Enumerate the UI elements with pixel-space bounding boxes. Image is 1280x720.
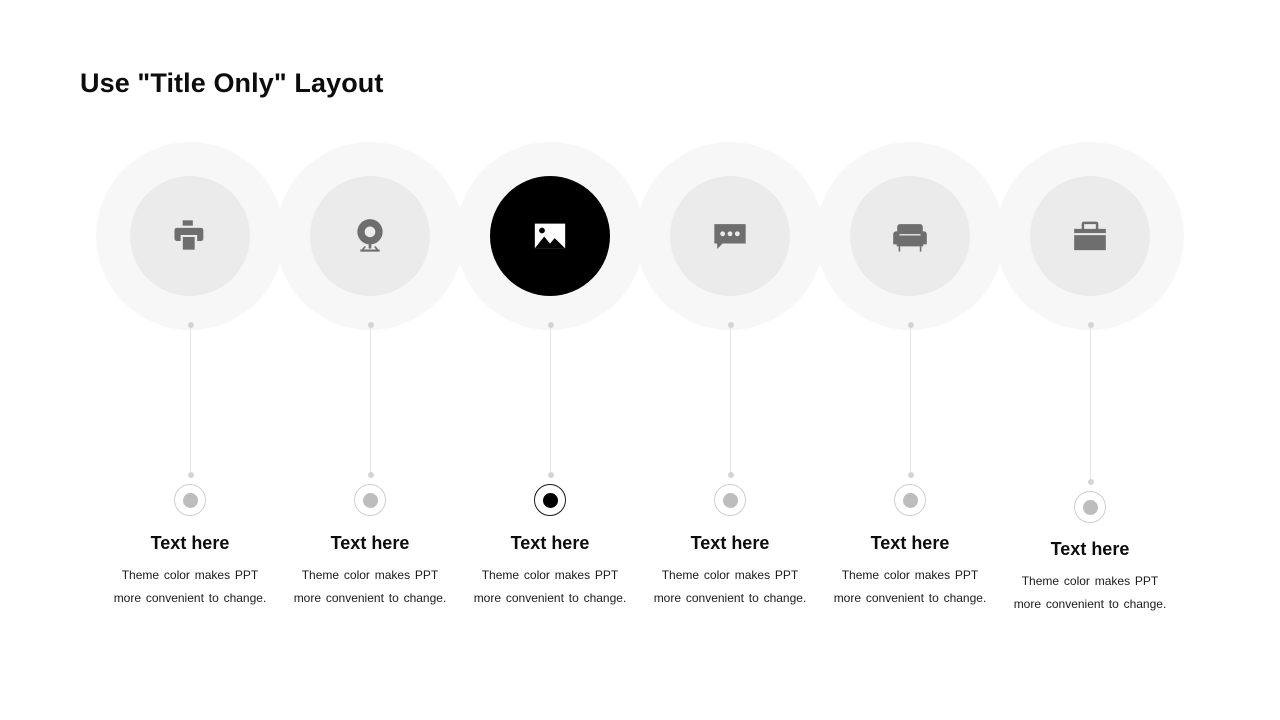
step-marker-dot-6 bbox=[1083, 500, 1098, 515]
connector-dot-top-3 bbox=[548, 322, 554, 328]
step-marker-dot-2 bbox=[363, 493, 378, 508]
connector-dot-bottom-5 bbox=[908, 472, 914, 478]
connector-dot-bottom-4 bbox=[728, 472, 734, 478]
connector-dot-top-5 bbox=[908, 322, 914, 328]
icon-circles-band bbox=[0, 142, 1280, 332]
connector-stem-1 bbox=[190, 325, 191, 475]
connector-dot-bottom-1 bbox=[188, 472, 194, 478]
step-marker-dot-3 bbox=[543, 493, 558, 508]
inner-circle-5[interactable] bbox=[850, 176, 970, 296]
connector-dot-bottom-2 bbox=[368, 472, 374, 478]
inner-circle-2[interactable] bbox=[310, 176, 430, 296]
step-marker-6[interactable] bbox=[1074, 491, 1106, 523]
text-block-body-6: Theme color makes PPT more convenient to… bbox=[975, 570, 1205, 617]
printer-icon bbox=[170, 216, 210, 256]
step-marker-2[interactable] bbox=[354, 484, 386, 516]
connector-dot-top-4 bbox=[728, 322, 734, 328]
connector-line-6 bbox=[1090, 325, 1091, 482]
connector-stem-6 bbox=[1090, 325, 1091, 482]
step-marker-dot-5 bbox=[903, 493, 918, 508]
connector-stem-2 bbox=[370, 325, 371, 475]
connector-dot-top-1 bbox=[188, 322, 194, 328]
connector-line-3 bbox=[550, 325, 551, 475]
step-marker-dot-1 bbox=[183, 493, 198, 508]
connector-stem-3 bbox=[550, 325, 551, 475]
icon-circle-group-3[interactable] bbox=[456, 142, 644, 330]
slide-canvas: Use "Title Only" Layout bbox=[0, 0, 1280, 720]
step-marker-5[interactable] bbox=[894, 484, 926, 516]
connector-line-5 bbox=[910, 325, 911, 475]
connector-line-2 bbox=[370, 325, 371, 475]
text-block-heading-6: Text here bbox=[975, 540, 1205, 560]
text-block-6: Text here Theme color makes PPT more con… bbox=[975, 540, 1205, 617]
connector-line-4 bbox=[730, 325, 731, 475]
icon-circle-group-2[interactable] bbox=[276, 142, 464, 330]
icon-circle-group-4[interactable] bbox=[636, 142, 824, 330]
inner-circle-3[interactable] bbox=[490, 176, 610, 296]
icon-circle-group-5[interactable] bbox=[816, 142, 1004, 330]
connector-stem-5 bbox=[910, 325, 911, 475]
connector-dot-bottom-3 bbox=[548, 472, 554, 478]
armchair-icon bbox=[889, 215, 931, 257]
text-block-body-line-6-2: more convenient to change. bbox=[975, 593, 1205, 616]
step-marker-dot-4 bbox=[723, 493, 738, 508]
icon-circle-group-6[interactable] bbox=[996, 142, 1184, 330]
page-title: Use "Title Only" Layout bbox=[80, 68, 383, 99]
step-marker-3[interactable] bbox=[534, 484, 566, 516]
connector-line-1 bbox=[190, 325, 191, 475]
inner-circle-6[interactable] bbox=[1030, 176, 1150, 296]
webcam-icon bbox=[350, 216, 390, 256]
inner-circle-1[interactable] bbox=[130, 176, 250, 296]
briefcase-icon bbox=[1070, 216, 1110, 256]
step-marker-1[interactable] bbox=[174, 484, 206, 516]
connector-dot-top-2 bbox=[368, 322, 374, 328]
inner-circle-4[interactable] bbox=[670, 176, 790, 296]
image-icon bbox=[530, 216, 570, 256]
text-block-body-line-6-1: Theme color makes PPT bbox=[975, 570, 1205, 593]
connector-dot-bottom-6 bbox=[1088, 479, 1094, 485]
connector-dot-top-6 bbox=[1088, 322, 1094, 328]
connector-stem-4 bbox=[730, 325, 731, 475]
step-marker-4[interactable] bbox=[714, 484, 746, 516]
icon-circle-group-1[interactable] bbox=[96, 142, 284, 330]
chat-bubble-icon bbox=[710, 216, 750, 256]
